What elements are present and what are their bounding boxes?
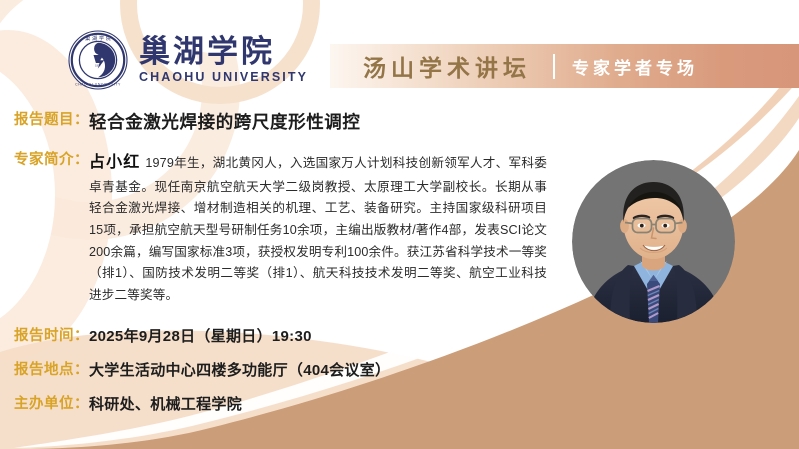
banner-subtitle: 专家学者专场: [572, 54, 698, 79]
university-logo: 巢 湖 学 院 CHAOHU UNIVERSITY 1977 巢湖学院 CHAO…: [68, 30, 308, 90]
svg-text:CHAOHU UNIVERSITY: CHAOHU UNIVERSITY: [75, 82, 121, 86]
svg-text:巢 湖 学 院: 巢 湖 学 院: [85, 34, 112, 42]
speaker-portrait: [572, 160, 735, 323]
field-host-unit: 主办单位： 科研处、机械工程学院: [0, 393, 799, 416]
speaker-bio-label: 专家简介：: [14, 149, 89, 171]
speaker-bio-text: 1979年生，湖北黄冈人，入选国家万人计划科技创新领军人才、军科委卓青基金。现任…: [89, 156, 547, 302]
university-name-en: CHAOHU UNIVERSITY: [139, 71, 308, 84]
host-unit-value: 科研处、机械工程学院: [89, 393, 242, 416]
series-banner: 汤山学术讲坛 专家学者专场: [330, 44, 799, 88]
host-unit-label: 主办单位：: [14, 393, 89, 415]
report-title-value: 轻合金激光焊接的跨尺度形性调控: [89, 109, 361, 136]
lecture-poster: 巢 湖 学 院 CHAOHU UNIVERSITY 1977 巢湖学院 CHAO…: [0, 0, 799, 449]
field-report-time: 报告时间： 2025年9月28日（星期日）19:30: [0, 325, 799, 348]
poster-header: 巢 湖 学 院 CHAOHU UNIVERSITY 1977 巢湖学院 CHAO…: [0, 0, 799, 104]
speaker-portrait-image: [572, 160, 735, 323]
banner-divider: [553, 54, 555, 79]
field-report-title: 报告题目： 轻合金激光焊接的跨尺度形性调控: [0, 109, 799, 136]
report-time-value: 2025年9月28日（星期日）19:30: [89, 325, 312, 348]
report-title-label: 报告题目：: [14, 109, 89, 131]
speaker-name: 占小红: [89, 154, 140, 171]
banner-main-title: 汤山学术讲坛: [363, 49, 531, 83]
field-report-place: 报告地点： 大学生活动中心四楼多功能厅（404会议室）: [0, 359, 799, 382]
university-name-cn: 巢湖学院: [139, 37, 275, 68]
report-time-label: 报告时间：: [14, 325, 89, 347]
speaker-bio-body: 占小红1979年生，湖北黄冈人，入选国家万人计划科技创新领军人才、军科委卓青基金…: [89, 149, 547, 306]
university-seal-icon: 巢 湖 学 院 CHAOHU UNIVERSITY 1977: [68, 30, 128, 90]
report-place-value: 大学生活动中心四楼多功能厅（404会议室）: [89, 359, 390, 382]
svg-text:1977: 1977: [95, 64, 101, 68]
university-wordmark: 巢湖学院 CHAOHU UNIVERSITY: [139, 37, 308, 84]
report-place-label: 报告地点：: [14, 359, 89, 381]
